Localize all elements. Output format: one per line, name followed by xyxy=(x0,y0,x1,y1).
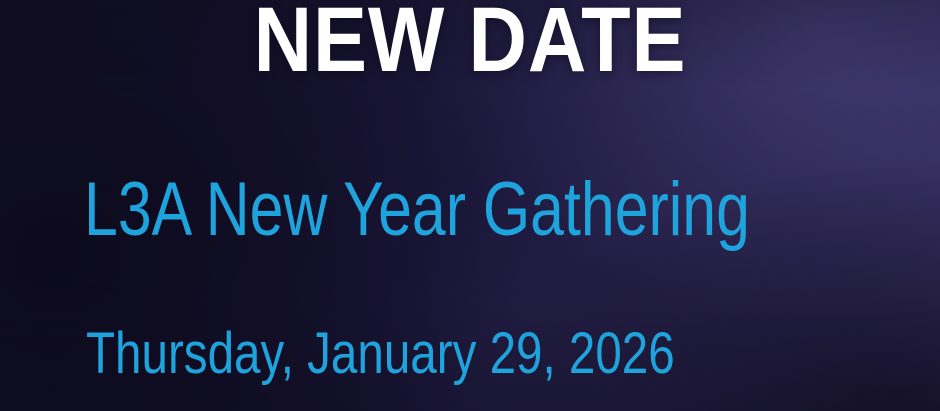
event-date: Thursday, January 29, 2026 xyxy=(86,325,675,383)
banner-content: NEW DATE L3A New Year Gathering Thursday… xyxy=(0,0,940,411)
event-announcement-banner: NEW DATE L3A New Year Gathering Thursday… xyxy=(0,0,940,411)
event-title: L3A New Year Gathering xyxy=(84,172,750,248)
kicker-new-date: NEW DATE xyxy=(56,0,883,86)
